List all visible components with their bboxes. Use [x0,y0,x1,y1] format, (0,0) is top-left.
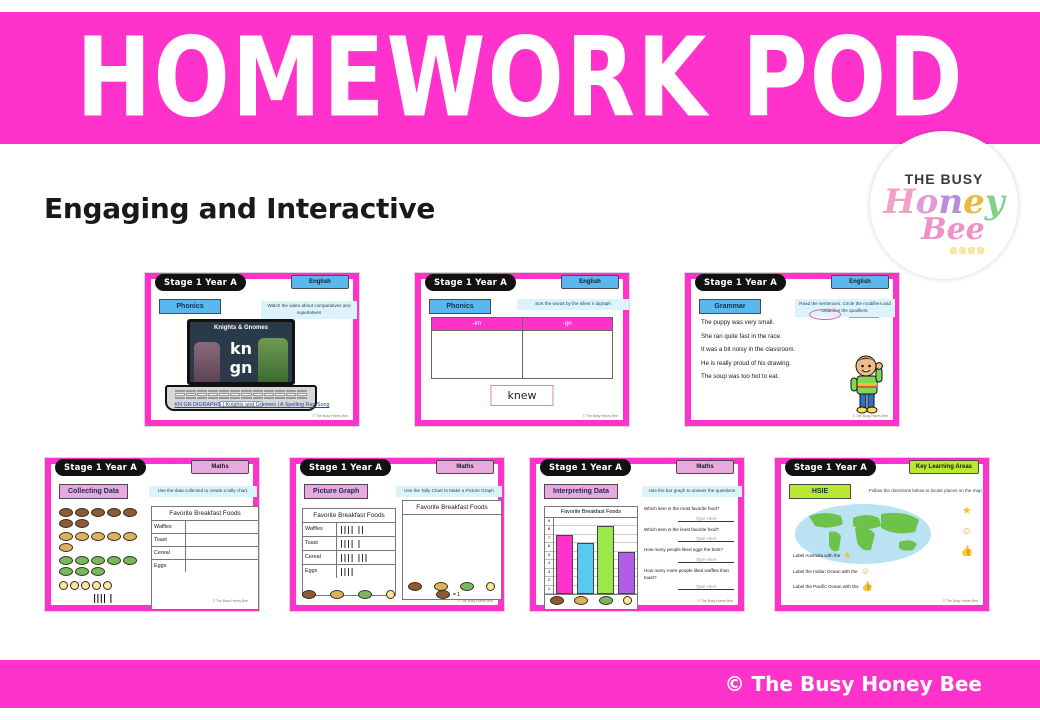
stage-banner: Stage 1 Year A [155,274,246,291]
row-label: Toast [303,537,337,550]
map-direction-item: Label the Indian Ocean with the ☺ [793,566,873,576]
page-title: HOMEWORK POD [76,29,964,128]
card-copyright: © The Busy Honey Bee [583,414,618,418]
y-tick: 5 [545,552,553,560]
egg-icon[interactable] [70,581,79,590]
card-inner: Stage 1 Year A Maths Interpreting Data U… [536,464,738,605]
toast-icon[interactable] [59,543,73,552]
subject-tab-english[interactable]: English [831,275,889,289]
question-text: How many people liked eggs the best? [644,547,742,554]
direction-text: Label the Indian Ocean with the [793,569,858,574]
y-tick: 3 [545,569,553,577]
logo-bee-script: Bee [921,215,985,245]
smiley-icon[interactable]: ☺ [861,566,870,576]
question-text: How many more people liked waffles than … [644,568,742,581]
card-inner: Stage 1 Year A Maths Picture Graph Use t… [296,464,498,605]
topic-label-collecting-data: Collecting Data [59,484,128,499]
waffle-icon[interactable] [107,508,121,517]
table-row[interactable]: Toast [152,534,258,547]
food-icon-group-cereal [59,556,143,576]
cereal-icon[interactable] [91,556,105,565]
egg-icon[interactable] [486,582,495,591]
card-inner: Stage 1 Year A English Phonics Watch the… [151,279,353,420]
card-copyright: © The Busy Honey Bee [853,414,888,418]
stage-banner: Stage 1 Year A [695,274,786,291]
table-row[interactable]: Eggs|||| [303,565,395,578]
card-copyright: © The Busy Honey Bee [943,599,978,603]
video-word-gn: gn [190,358,292,377]
waffle-icon[interactable] [91,508,105,517]
topic-label-hsie: HSIE [789,484,851,499]
question-text: Which item is the most favorite food? [644,506,742,513]
egg-icon[interactable] [386,590,395,599]
row-label: Eggs [303,565,337,578]
toast-icon[interactable] [123,532,137,541]
y-tick: 7 [545,535,553,543]
picture-graph-key: = 1 [436,590,460,599]
answer-input[interactable]: Type Here [678,516,734,522]
direction-text: Label Australia with the [793,553,840,558]
waffle-icon[interactable] [59,519,73,528]
africa [855,528,875,551]
table-row[interactable]: Waffles [152,521,258,534]
row-label: Toast [152,534,186,546]
y-tick: 1 [545,586,553,594]
row-label: Waffles [303,523,337,536]
subject-tab-english[interactable]: English [291,275,349,289]
smiley-icon[interactable]: ☺ [962,526,972,537]
sort-column-kn[interactable]: -kn [432,318,523,378]
tally-chart-table[interactable]: Favorite Breakfast Foods Waffles|||| || … [302,508,396,596]
row-value[interactable] [186,521,258,533]
subject-tab-maths[interactable]: Maths [676,460,734,474]
y-tick: 6 [545,543,553,551]
thumbs-up-icon[interactable]: 👍 [862,581,873,592]
toast-icon[interactable] [75,532,89,541]
food-icon-legend-row [302,590,395,599]
tally-chart-table[interactable]: Favorite Breakfast Foods Waffles Toast C… [151,506,259,610]
bar-toast [577,543,594,594]
subject-tab-english[interactable]: English [561,275,619,289]
instruction-text: Use the bar graph to answer the question… [642,486,742,497]
slide-card-picture-graph[interactable]: Stage 1 Year A Maths Picture Graph Use t… [289,457,505,612]
row-tally: |||| | [337,537,395,550]
asia [881,513,919,533]
slide-page: HOMEWORK POD THE BUSY Honey Bee Engaging… [0,0,1040,720]
subject-tab-maths[interactable]: Maths [436,460,494,474]
stage-banner: Stage 1 Year A [785,459,876,476]
laptop-illustration: Knights & Gnomes kn gn [187,319,317,411]
card-copyright: © The Busy Honey Bee [213,599,248,603]
cereal-icon[interactable] [59,567,73,576]
instruction-text: Use the data collected to create a tally… [149,486,257,497]
sentence-item[interactable]: She ran quite fast in the race. [701,333,833,340]
star-icon[interactable]: ★ [843,550,851,561]
sentence-item[interactable]: The soup was too hot to eat. [701,373,833,380]
instruction-text: Follow the directions below to locate pl… [865,486,987,497]
cereal-icon[interactable] [91,567,105,576]
food-icon-group-eggs [59,581,143,590]
graph-title: Favorite Breakfast Foods [545,507,637,518]
table-row[interactable]: Cereal [152,547,258,560]
australia [899,540,917,550]
footer-copyright: © The Busy Honey Bee [725,672,1040,696]
waffle-icon[interactable] [75,508,89,517]
y-tick: 4 [545,560,553,568]
cereal-icon[interactable] [460,582,474,591]
table-row[interactable]: Toast|||| | [303,537,395,551]
header-band: HOMEWORK POD [0,12,1040,144]
question-item: Which item is the most favorite food? Ty… [644,506,742,522]
row-label: Cereal [303,551,337,564]
row-value[interactable] [186,534,258,546]
y-tick: 9 [545,518,553,526]
graph-title: Favorite Breakfast Foods [403,501,501,515]
thumbs-up-icon[interactable]: 👍 [961,546,973,557]
row-tally: |||| [337,565,395,578]
question-item: Which item is the least favorite food? T… [644,527,742,543]
toast-icon [574,596,588,605]
answer-input[interactable]: Type Here [678,584,734,590]
south-america [829,532,841,552]
bar-cereal [597,526,614,594]
topic-label-interpreting-data: Interpreting Data [544,484,618,499]
key-label: = 1 [453,592,460,598]
table-title: Favorite Breakfast Foods [152,507,258,521]
card-inner: Stage 1 Year A Key Learning Areas HSIE F… [781,464,983,605]
sort-column-header: -kn [432,318,522,331]
boy-character-illustration [847,352,885,414]
cereal-icon[interactable] [123,556,137,565]
row-value[interactable] [186,560,258,572]
instruction-text: Watch the video about comparatives and s… [261,301,357,319]
underline-marker-icon [849,317,879,318]
stage-banner: Stage 1 Year A [300,459,391,476]
question-item: How many people liked eggs the best? Typ… [644,547,742,563]
egg-icon[interactable] [81,581,90,590]
bar-graph-plot: 9 8 7 6 5 4 3 2 1 [545,518,637,594]
sentence-item[interactable]: The puppy was very small. [701,319,833,326]
laptop-keyboard [175,390,307,399]
slide-card-phonics-video[interactable]: Stage 1 Year A English Phonics Watch the… [144,272,360,427]
bar-eggs [618,552,635,594]
answer-input[interactable]: Type Here [678,557,734,563]
egg-icon [623,596,632,605]
card-copyright: © The Busy Honey Bee [313,414,348,418]
card-copyright: © The Busy Honey Bee [458,599,493,603]
topic-label-phonics: Phonics [159,299,221,314]
stage-banner: Stage 1 Year A [425,274,516,291]
topic-label-picture-graph: Picture Graph [304,484,368,499]
section-heading: Engaging and Interactive [44,192,435,225]
waffle-icon[interactable] [302,590,316,599]
bar-graph: Favorite Breakfast Foods 9 8 7 6 5 4 3 2… [544,506,638,610]
waffle-icon[interactable] [408,582,422,591]
map-direction-item: Label the Pacific Ocean with the 👍 [793,581,873,592]
card-copyright: © The Busy Honey Bee [698,599,733,603]
egg-icon[interactable] [92,581,101,590]
bar-waffles [556,535,573,594]
question-item: How many more people liked waffles than … [644,568,742,590]
sentence-list: The puppy was very small. She ran quite … [701,319,833,387]
row-tally: |||| ||| [337,551,395,564]
toast-icon[interactable] [59,532,73,541]
table-title: Favorite Breakfast Foods [303,509,395,523]
waffle-icon[interactable] [59,508,73,517]
table-row[interactable]: Waffles|||| || [303,523,395,537]
europe [853,515,881,529]
logo-letter-h: H [884,182,916,222]
subject-tab-key-learning-areas[interactable]: Key Learning Areas [909,460,979,474]
bar-graph-x-icons [545,594,637,606]
video-word-kn: kn [190,339,292,358]
slide-card-collecting-data[interactable]: Stage 1 Year A Maths Collecting Data Use… [44,457,260,612]
question-list: Which item is the most favorite food? Ty… [644,506,742,595]
row-value[interactable] [186,547,258,559]
card-inner: Stage 1 Year A Maths Collecting Data Use… [51,464,253,605]
cereal-icon [599,596,613,605]
row-label: Cereal [152,547,186,559]
waffle-icon[interactable] [75,519,89,528]
sentence-item[interactable]: It was a bit noisy in the classroom. [701,346,833,353]
map-direction-list: Label Australia with the ★ Label the Ind… [793,550,873,597]
brand-logo: THE BUSY Honey Bee [870,131,1018,279]
row-tally: |||| || [337,523,395,536]
question-text: Which item is the least favorite food? [644,527,742,534]
food-icon-group-toast [59,532,143,552]
subject-tab-maths[interactable]: Maths [191,460,249,474]
north-america [809,513,843,528]
topic-label-grammar: Grammar [699,299,761,314]
slide-card-phonics-sort[interactable]: Stage 1 Year A English Phonics Sort the … [414,272,630,427]
cereal-icon[interactable] [107,556,121,565]
topic-label-phonics: Phonics [429,299,491,314]
card-inner: Stage 1 Year A English Phonics Sort the … [421,279,623,420]
table-row[interactable]: Cereal|||| ||| [303,551,395,565]
table-row[interactable]: Eggs [152,560,258,572]
bar-graph-bars [554,518,637,594]
footer-band: © The Busy Honey Bee [0,660,1040,708]
row-label: Eggs [152,560,186,572]
cereal-icon[interactable] [59,556,73,565]
slide-card-interpreting-data[interactable]: Stage 1 Year A Maths Interpreting Data U… [529,457,745,612]
sample-tally: |||| | [93,594,113,604]
cereal-icon[interactable] [358,590,372,599]
sort-column-header: -gn [523,318,613,331]
food-icon-group-waffles [59,508,143,528]
toast-icon[interactable] [91,532,105,541]
honeycomb-icon [950,247,984,254]
stage-banner: Stage 1 Year A [55,459,146,476]
cereal-icon[interactable] [75,567,89,576]
card-inner: Stage 1 Year A English Grammar Read the … [691,279,893,420]
map-legend-icons: ★ ☺ 👍 [961,504,973,557]
toast-icon[interactable] [330,590,344,599]
toast-icon[interactable] [107,532,121,541]
video-thumbnail-title: Knights & Gnomes [190,325,292,331]
laptop-screen: Knights & Gnomes kn gn [187,319,295,385]
slide-card-hsie-map[interactable]: Stage 1 Year A Key Learning Areas HSIE F… [774,457,990,612]
draggable-word-card[interactable]: knew [490,385,553,406]
waffle-icon [436,590,450,599]
star-icon[interactable]: ★ [962,504,972,517]
instruction-text: Use the Tally Chart to Make a Picture Gr… [396,486,502,497]
y-tick: 8 [545,526,553,534]
slide-card-grammar[interactable]: Stage 1 Year A English Grammar Read the … [684,272,900,427]
cereal-icon[interactable] [75,556,89,565]
answer-input[interactable]: Type Here [678,536,734,542]
video-link[interactable]: KN GN DIGRAPHS | Knights and Gnomes | A … [151,402,353,408]
egg-icon[interactable] [103,581,112,590]
waffle-icon[interactable] [123,508,137,517]
map-direction-item: Label Australia with the ★ [793,550,873,561]
y-tick: 2 [545,577,553,585]
egg-icon[interactable] [59,581,68,590]
logo-letter-y: y [985,182,1005,222]
waffle-icon [550,596,564,605]
direction-text: Label the Pacific Ocean with the [793,584,859,589]
bar-graph-y-axis: 9 8 7 6 5 4 3 2 1 [545,518,554,594]
sort-column-gn[interactable]: -gn [523,318,613,378]
row-label: Waffles [152,521,186,533]
sentence-item[interactable]: He is really proud of his drawing. [701,360,833,367]
stage-banner: Stage 1 Year A [540,459,631,476]
sort-table[interactable]: -kn -gn [431,317,613,379]
instruction-text: Sort the words by the silent n digraph [517,299,629,310]
